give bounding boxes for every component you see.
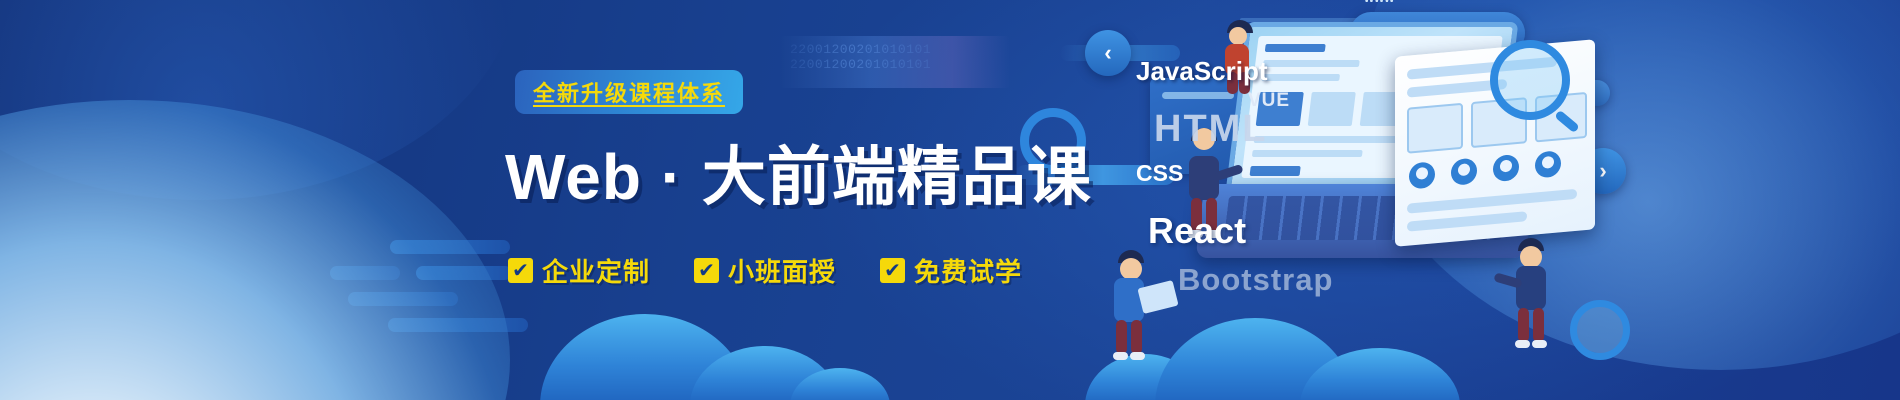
check-icon: ✔ bbox=[694, 258, 719, 283]
feature-list: ✔ 企业定制 ✔ 小班面授 ✔ 免费试学 bbox=[508, 252, 1022, 289]
feature-label: 企业定制 bbox=[542, 252, 650, 289]
keyword-css: CSS bbox=[1136, 160, 1183, 187]
feature-label: 小班面授 bbox=[728, 252, 836, 289]
feature-item-free-trial: ✔ 免费试学 bbox=[880, 252, 1022, 289]
check-icon: ✔ bbox=[508, 258, 533, 283]
person-right bbox=[1502, 238, 1562, 348]
course-badge: 全新升级课程体系 bbox=[515, 70, 743, 114]
person-with-tablet bbox=[1100, 250, 1170, 370]
magnifier-icon-bottom bbox=[1570, 300, 1630, 360]
feature-label: 免费试学 bbox=[914, 252, 1022, 289]
keyword-javascript: JavaScript bbox=[1136, 56, 1268, 87]
feature-item-small-class: ✔ 小班面授 bbox=[694, 252, 836, 289]
feature-item-enterprise: ✔ 企业定制 bbox=[508, 252, 650, 289]
magnifier-icon-top bbox=[1490, 40, 1570, 120]
course-badge-label: 全新升级课程体系 bbox=[533, 76, 725, 108]
keyword-html: HTML bbox=[1154, 108, 1268, 151]
page-title: Web · 大前端精品课 bbox=[505, 126, 1092, 218]
check-icon: ✔ bbox=[880, 258, 905, 283]
www-label: www bbox=[1364, 0, 1394, 5]
promo-copy-block: 全新升级课程体系 Web · 大前端精品课 ✔ 企业定制 ✔ 小班面授 ✔ 免费… bbox=[0, 0, 1100, 400]
keyword-react: React bbox=[1148, 210, 1246, 252]
keyword-bootstrap: Bootstrap bbox=[1178, 262, 1333, 298]
tech-illustration: ‹ › www bbox=[1180, 0, 1900, 400]
course-promo-banner: 22001200201010101 22001200201010101 ‹ › … bbox=[0, 0, 1900, 400]
